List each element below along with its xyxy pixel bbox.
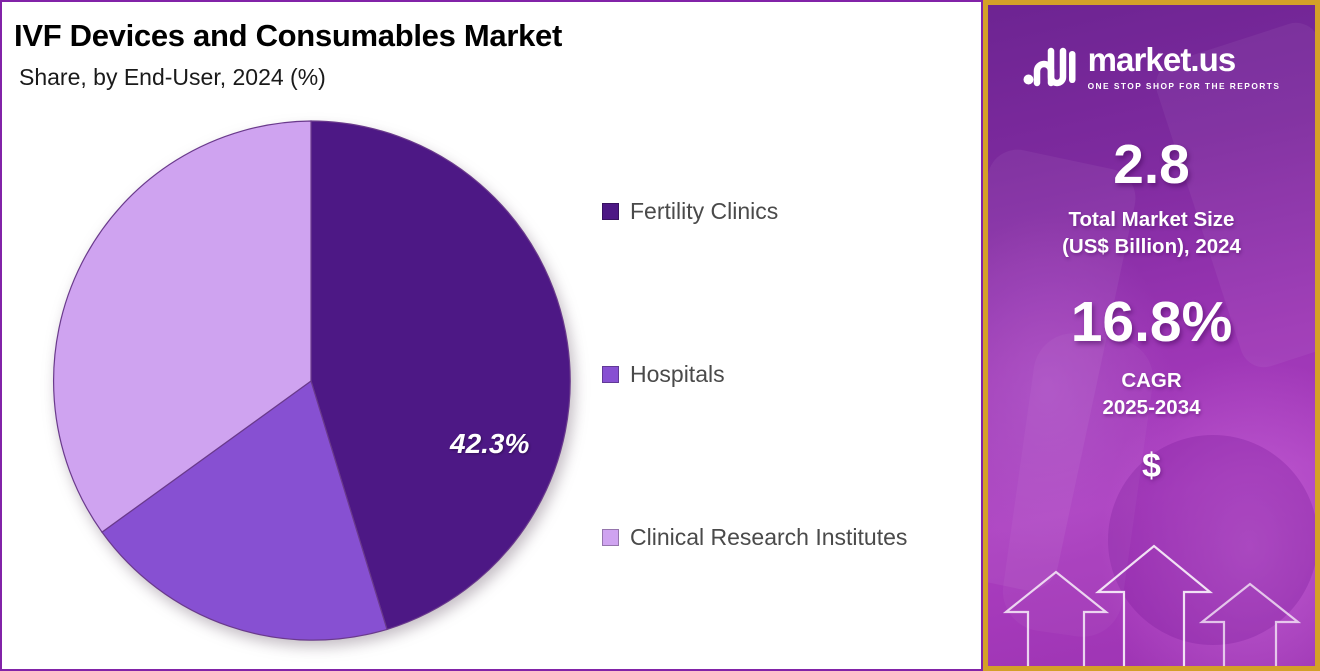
legend-item-label: Fertility Clinics [630,198,778,225]
legend-item-clinical-research-institutes[interactable]: Clinical Research Institutes [602,524,907,551]
cagr-value: 16.8% [1071,294,1233,351]
chart-subtitle: Share, by End-User, 2024 (%) [19,64,562,91]
pie-slice-value-label: 42.3% [450,428,529,460]
market-size-label-line1: Total Market Size [1062,206,1241,233]
cagr-label-line1: CAGR [1102,367,1200,394]
legend-swatch-icon [602,529,619,546]
brand-tagline: ONE STOP SHOP FOR THE REPORTS [1088,81,1281,91]
legend-item-fertility-clinics[interactable]: Fertility Clinics [602,198,778,225]
brand-name: market.us [1088,43,1281,76]
legend-item-label: Clinical Research Institutes [630,524,907,551]
market-size-value: 2.8 [1113,137,1189,192]
legend-swatch-icon [602,203,619,220]
pie-chart: 42.3% [50,120,572,642]
legend-item-label: Hospitals [630,361,725,388]
legend-item-hospitals[interactable]: Hospitals [602,361,725,388]
cagr-label-line2: 2025-2034 [1102,394,1200,421]
cagr-label: CAGR 2025-2034 [1102,367,1200,421]
pie-slices [50,120,572,642]
dollar-sign-icon: $ [1142,447,1161,486]
growth-arrows-icon [988,536,1315,666]
chart-panel: IVF Devices and Consumables Market Share… [0,0,983,671]
market-size-label-line2: (US$ Billion), 2024 [1062,233,1241,260]
market-us-logo-icon [1023,47,1079,87]
market-size-label: Total Market Size (US$ Billion), 2024 [1062,206,1241,260]
brand-logo[interactable]: market.us ONE STOP SHOP FOR THE REPORTS [1023,43,1281,91]
brand-stats-panel: market.us ONE STOP SHOP FOR THE REPORTS … [983,0,1320,671]
infographic-page: IVF Devices and Consumables Market Share… [0,0,1320,671]
legend-swatch-icon [602,366,619,383]
chart-header: IVF Devices and Consumables Market Share… [14,18,562,91]
page-title: IVF Devices and Consumables Market [14,18,562,54]
